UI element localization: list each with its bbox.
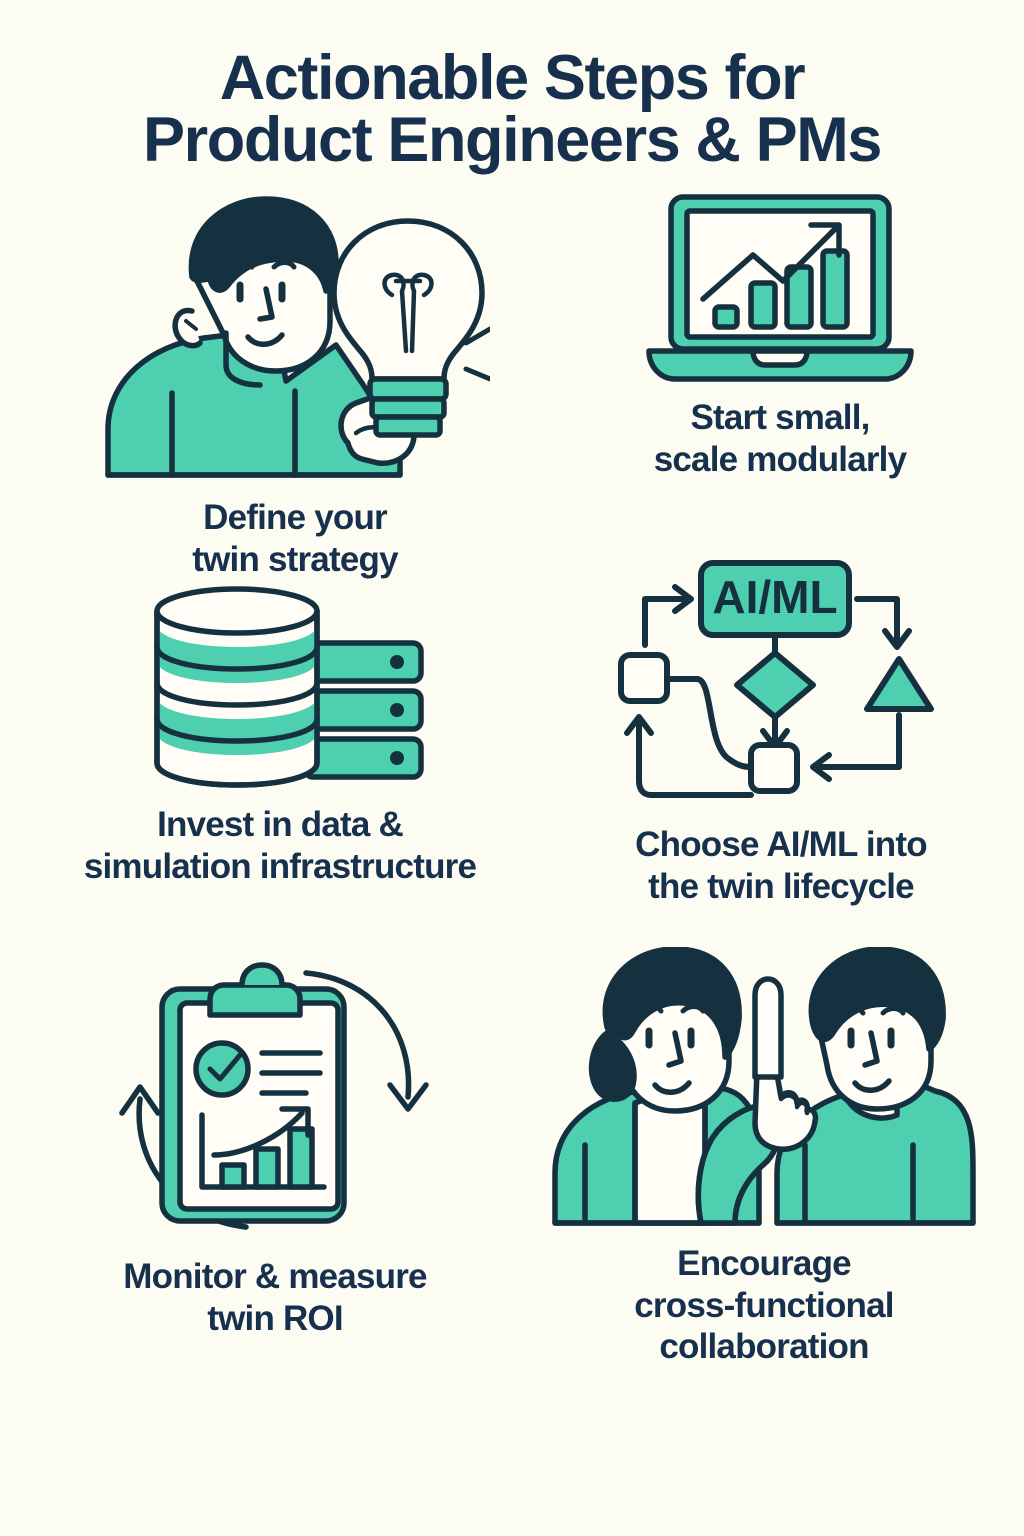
step-card-choose-aiml-twin-lifecycle: AI/ML	[556, 555, 1006, 907]
step-caption-line-1: Monitor & measure	[30, 1256, 520, 1297]
step-card-define-twin-strategy: Define your twin strategy	[60, 193, 530, 580]
laptop-growth-chart-icon	[560, 193, 1000, 383]
step-caption-line-1: Encourage	[524, 1243, 1004, 1284]
step-caption-line-2: simulation infrastructure	[20, 846, 540, 887]
infographic-page: Actionable Steps for Product Engineers &…	[0, 0, 1024, 1536]
step-caption: Choose AI/ML into the twin lifecycle	[556, 824, 1006, 907]
aiml-flow-diagram-icon: AI/ML	[556, 555, 1006, 810]
step-caption-line-1: Choose AI/ML into	[556, 824, 1006, 865]
step-caption-line-1: Invest in data &	[20, 804, 540, 845]
step-caption-line-1: Define your	[60, 497, 530, 538]
step-card-encourage-cross-functional-collaboration: Encourage cross-functional collaboration	[524, 947, 1004, 1367]
person-lightbulb-icon	[60, 193, 530, 483]
step-caption-line-3: collaboration	[524, 1326, 1004, 1367]
step-caption: Start small, scale modularly	[560, 397, 1000, 480]
step-caption-line-2: scale modularly	[560, 439, 1000, 480]
page-title: Actionable Steps for Product Engineers &…	[0, 0, 1024, 171]
step-caption-line-2: twin strategy	[60, 539, 530, 580]
step-caption: Invest in data & simulation infrastructu…	[20, 804, 540, 887]
step-card-monitor-measure-twin-roi: Monitor & measure twin ROI	[30, 957, 520, 1339]
step-caption-line-2: twin ROI	[30, 1298, 520, 1339]
step-card-start-small-scale-modularly: Start small, scale modularly	[560, 193, 1000, 480]
step-caption-line-1: Start small,	[560, 397, 1000, 438]
page-title-line-1: Actionable Steps for	[40, 48, 984, 110]
database-server-icon	[20, 585, 540, 790]
step-caption-line-2: the twin lifecycle	[556, 866, 1006, 907]
page-title-line-2: Product Engineers & PMs	[40, 110, 984, 172]
clipboard-report-cycle-icon	[30, 957, 520, 1242]
step-caption-line-2: cross-functional	[524, 1285, 1004, 1326]
step-card-invest-in-data-infrastructure: Invest in data & simulation infrastructu…	[20, 585, 540, 887]
step-caption: Encourage cross-functional collaboration	[524, 1243, 1004, 1367]
step-caption: Monitor & measure twin ROI	[30, 1256, 520, 1339]
two-people-collaboration-icon	[524, 947, 1004, 1229]
aiml-box-label: AI/ML	[712, 571, 837, 623]
step-caption: Define your twin strategy	[60, 497, 530, 580]
